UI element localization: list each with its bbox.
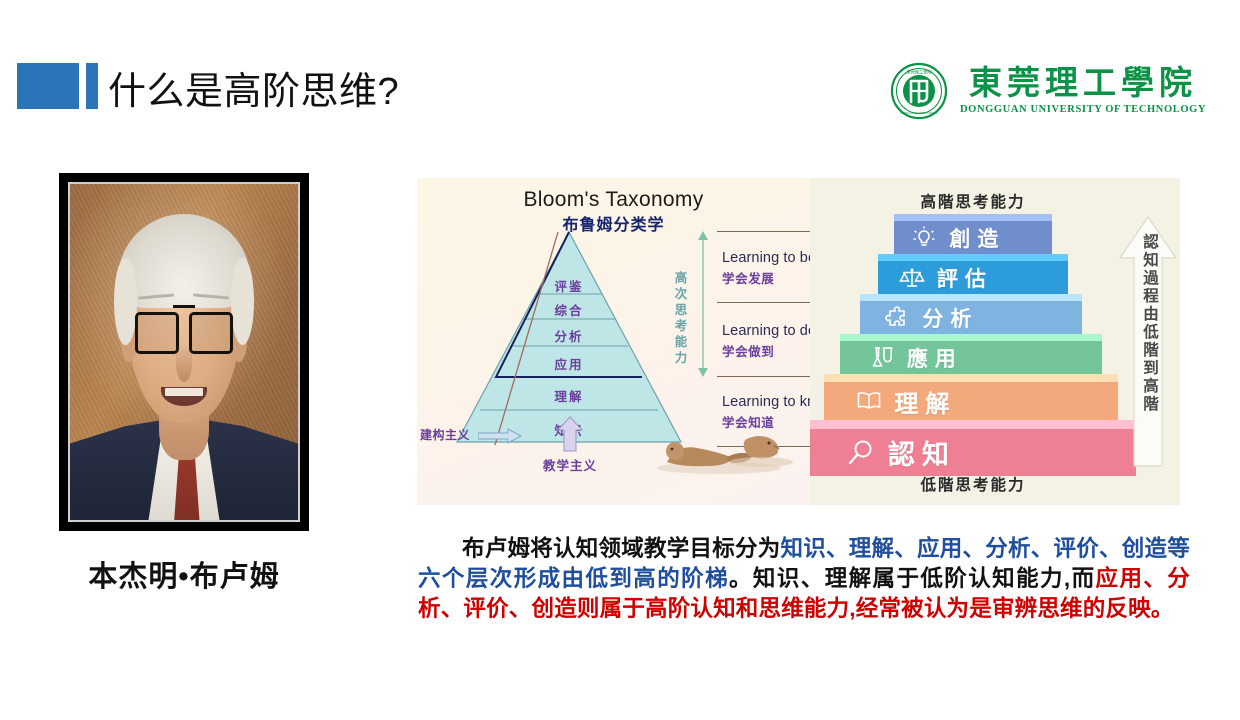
step-analyse-label: 分析 <box>922 303 978 333</box>
otters-illustration <box>649 410 801 476</box>
para-seg-0: 布卢姆将认知领域教学目标分为 <box>462 536 781 561</box>
header-accent-bar <box>86 63 98 109</box>
step-understand: 理解 <box>824 374 1118 420</box>
step-create-label: 創造 <box>949 223 1005 253</box>
pyramid-level-label-0: 评鉴 <box>455 276 683 295</box>
university-logo: 東莞理工學院 DONGGUAN UNIVERSITY 東莞理工學院 DONGGU… <box>890 62 1206 120</box>
pyramid-level-label-1: 综合 <box>455 300 683 319</box>
step-apply: 應用 <box>840 334 1102 374</box>
open-book-icon <box>856 388 882 414</box>
step-apply-label: 應用 <box>907 343 963 373</box>
step-create: 創造 <box>894 214 1052 254</box>
university-seal-icon: 東莞理工學院 DONGGUAN UNIVERSITY <box>890 62 948 120</box>
higher-order-label: 高階思考能力 <box>810 190 1136 212</box>
step-analyse: 分析 <box>860 294 1082 334</box>
bloom-title-en: Bloom's Taxonomy <box>417 188 810 212</box>
puzzle-icon <box>884 305 910 331</box>
bloom-pyramid-panel: Bloom's Taxonomy 布鲁姆分类学 评鉴 综合 分析 应用 理解 <box>417 178 810 505</box>
pyramid-level-label-4: 理解 <box>455 386 683 405</box>
instructionism-arrow-icon <box>557 416 583 457</box>
step-remember: 認知 <box>810 420 1136 476</box>
taxonomy-figure: Bloom's Taxonomy 布鲁姆分类学 评鉴 综合 分析 应用 理解 <box>417 178 1180 505</box>
higher-order-gauge-icon <box>692 230 714 378</box>
bloom-portrait-image <box>68 182 300 522</box>
university-name-cn: 東莞理工學院 <box>969 67 1197 102</box>
scales-icon <box>899 265 925 291</box>
constructivism-label-row: 建构主义 <box>420 426 522 444</box>
description-paragraph: 布卢姆将认知领域教学目标分为知识、理解、应用、分析、评价、创造等六个层次形成由低… <box>418 534 1190 624</box>
step-remember-label: 認知 <box>888 433 956 472</box>
step-pyramid-panel: 高階思考能力 低階思考能力 <box>810 178 1180 505</box>
flask-icon <box>869 345 895 371</box>
svg-text:DONGGUAN UNIVERSITY: DONGGUAN UNIVERSITY <box>900 111 938 115</box>
instructionism-label: 教学主义 <box>525 455 615 474</box>
page-title: 什么是高阶思维? <box>108 60 399 115</box>
portrait-caption: 本杰明•布卢姆 <box>59 553 309 595</box>
higher-order-gauge-label: 高次思考能力 <box>669 270 693 366</box>
constructivism-label: 建构主义 <box>420 428 470 442</box>
university-name: 東莞理工學院 DONGGUAN UNIVERSITY OF TECHNOLOGY <box>960 67 1206 115</box>
cognition-arrow-label: 認知過程由低階到高階 <box>1139 234 1163 414</box>
slide-root: 什么是高阶思维? 東莞理工學院 DONGGUAN UNIVERSITY 東莞理工… <box>0 0 1240 720</box>
header-accent-square <box>17 63 79 109</box>
para-seg-2: 。知识、理解属于低阶认知能力,而 <box>729 566 1096 591</box>
pyramid-level-label-3: 应用 <box>455 354 683 373</box>
svg-text:東莞理工學院: 東莞理工學院 <box>906 69 932 76</box>
step-pyramid-graphic: 創造 <box>810 214 1136 476</box>
lower-order-label: 低階思考能力 <box>810 473 1136 495</box>
university-name-en: DONGGUAN UNIVERSITY OF TECHNOLOGY <box>960 104 1206 115</box>
lightbulb-icon <box>911 225 937 251</box>
magnifier-icon <box>846 438 876 468</box>
right-arrow-icon <box>478 428 522 444</box>
step-understand-label: 理解 <box>894 384 956 419</box>
step-evaluate-label: 評估 <box>937 263 993 293</box>
pyramid-level-label-2: 分析 <box>455 326 683 345</box>
step-evaluate: 評估 <box>878 254 1068 294</box>
bloom-portrait-frame <box>59 173 309 531</box>
